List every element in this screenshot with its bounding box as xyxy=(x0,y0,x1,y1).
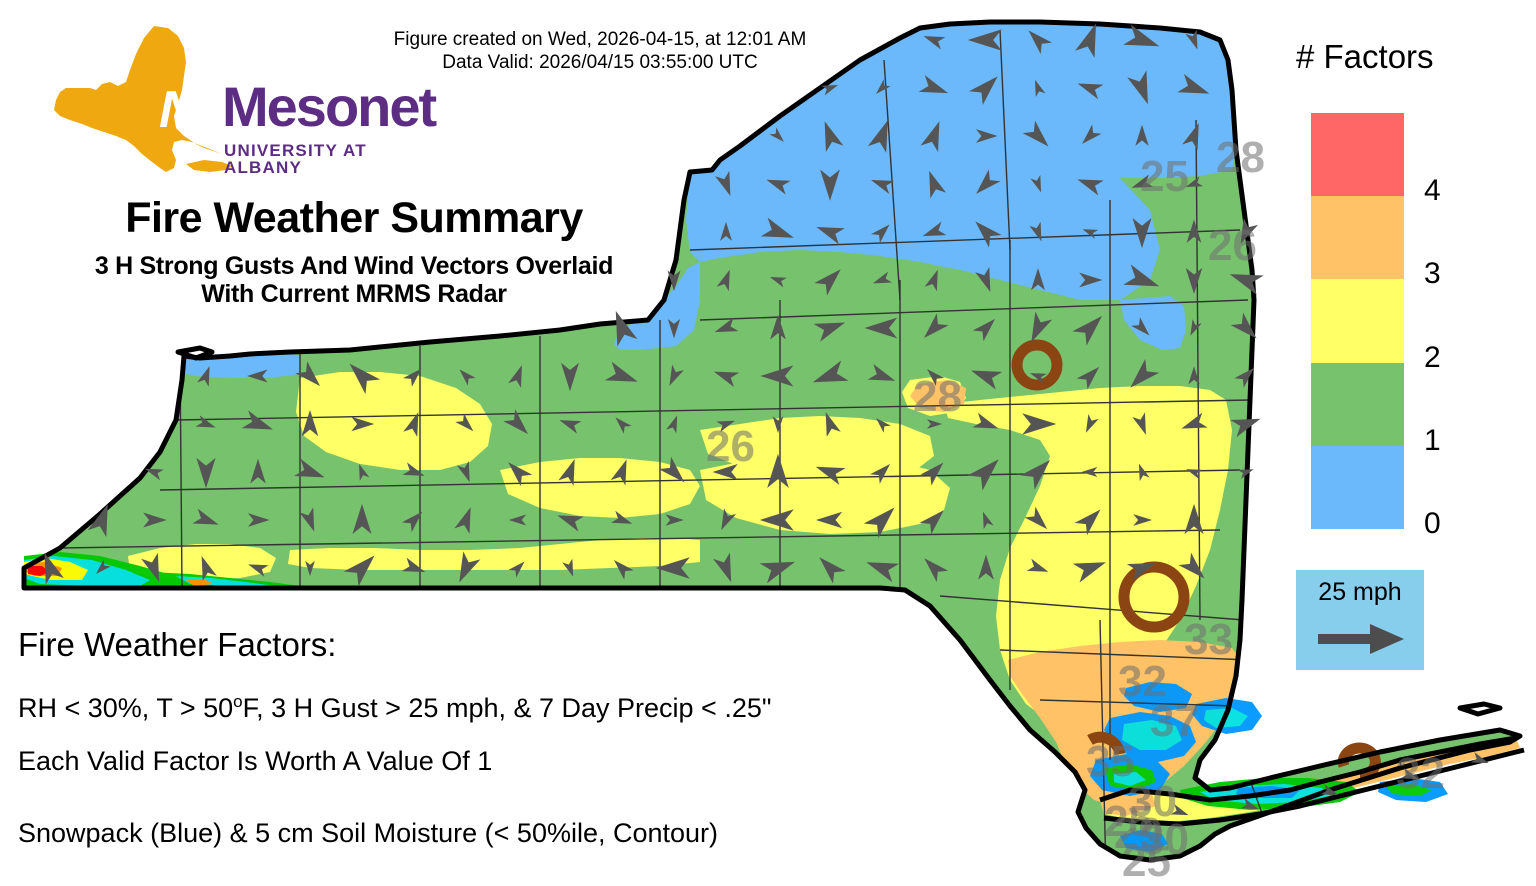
colorbar-band-1-2 xyxy=(1311,363,1404,446)
colorbar-title: # Factors xyxy=(1296,38,1434,76)
colorbar-tick-1: 1 xyxy=(1424,426,1441,456)
factors-criteria-line: RH < 30%, T > 50oF, 3 H Gust > 25 mph, &… xyxy=(18,692,771,724)
factors-colorbar xyxy=(1311,113,1404,529)
factors-heading: Fire Weather Factors: xyxy=(18,626,336,664)
colorbar-tick-0: 0 xyxy=(1424,509,1441,539)
wind-vector-key: 25 mph xyxy=(1296,570,1424,670)
wind-key-label: 25 mph xyxy=(1296,578,1424,607)
colorbar-band-3-4 xyxy=(1311,196,1404,279)
colorbar-band-4+ xyxy=(1311,113,1404,196)
colorbar-band-2-3 xyxy=(1311,279,1404,362)
colorbar-tick-3: 3 xyxy=(1424,259,1441,289)
degree-superscript: o xyxy=(233,692,242,711)
snowpack-soil-line: Snowpack (Blue) & 5 cm Soil Moisture (< … xyxy=(18,818,718,849)
colorbar-band-0-1 xyxy=(1311,446,1404,529)
factors-value-line: Each Valid Factor Is Worth A Value Of 1 xyxy=(18,746,492,777)
fire-weather-summary-figure: NYS Mesonet UNIVERSITY AT ALBANY Figure … xyxy=(0,0,1536,876)
factor-shading-layer xyxy=(0,0,1536,876)
criteria-part-a: RH < 30%, T > 50 xyxy=(18,693,233,723)
criteria-part-b: F, 3 H Gust > 25 mph, & 7 Day Precip < .… xyxy=(243,693,772,723)
wind-arrow-icon xyxy=(1318,622,1404,656)
new-york-state-fire-weather-map xyxy=(0,0,1536,876)
colorbar-tick-4: 4 xyxy=(1424,176,1441,206)
colorbar-tick-2: 2 xyxy=(1424,343,1441,373)
